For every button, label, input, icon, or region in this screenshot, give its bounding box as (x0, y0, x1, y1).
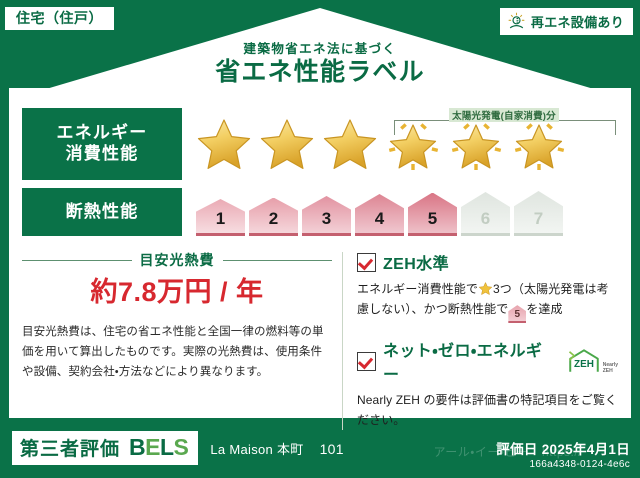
cost-section-title: 目安光熱費 (140, 250, 215, 270)
insulation-badge-5: 5 (408, 193, 457, 234)
star-plain (194, 114, 254, 174)
svg-text:ZEH: ZEH (574, 359, 594, 370)
insulation-badge-value: 4 (375, 209, 384, 229)
estimated-cost-value: 約7.8万円 / 年 (22, 279, 332, 306)
sun-icon (507, 12, 526, 31)
cost-section-header: 目安光熱費 (22, 250, 332, 270)
insulation-performance-label: 断熱性能 (22, 188, 182, 236)
evaluation-meta: 評価日 2025年4月1日 166a4348-0124-4e6c (496, 438, 630, 470)
zeh-desc-part-c: を達成 (526, 302, 562, 316)
insulation-badge-4: 4 (355, 194, 404, 233)
solar-caption: 太陽光発電(自家消費)分 (449, 108, 559, 122)
energy-performance-label: エネルギー 消費性能 (22, 108, 182, 180)
star-plain (320, 114, 380, 174)
column-divider (342, 252, 343, 430)
zeh-desc-star-count: 3つ (493, 282, 512, 296)
bels-en-label: BELS (129, 434, 188, 461)
label-content: エネルギー 消費性能 太陽光発電(自家消費)分 (22, 100, 618, 410)
bels-logo: 第三者評価 BELS (12, 431, 198, 465)
zeh-column: ZEH水準 エネルギー消費性能で3つ（太陽光発電は考慮しない）、かつ断熱性能で5… (355, 250, 618, 430)
heading-subtitle: 建築物省エネ法に基づく (0, 38, 640, 57)
divider-left (22, 260, 132, 261)
zeh-desc-part-a: エネルギー消費性能で (357, 282, 478, 296)
insulation-badge-value: 2 (269, 209, 278, 229)
net-zero-energy-block: ネット・ゼロ・エネルギー ZEH Nearly ZEH (357, 337, 618, 430)
insulation-badge-1: 1 (196, 199, 245, 233)
bels-jp-label: 第三者評価 (20, 434, 120, 461)
insulation-badge-value: 3 (322, 209, 331, 229)
zeh-level-description: エネルギー消費性能で3つ（太陽光発電は考慮しない）、かつ断熱性能で5を達成 (357, 279, 618, 321)
evaluation-date: 評価日 2025年4月1日 (496, 438, 630, 458)
zeh-house-icon: ZEH (567, 348, 601, 374)
energy-label-line1: エネルギー (57, 123, 148, 144)
zeh-level-header: ZEH水準 (357, 250, 618, 274)
inline-star-icon (478, 281, 493, 296)
detail-columns: 目安光熱費 約7.8万円 / 年 目安光熱費は、住宅の省エネ性能と全国一律の燃料… (22, 250, 618, 430)
energy-label-line2: 消費性能 (66, 144, 139, 165)
renewable-badge-label: 再エネ設備あり (531, 12, 624, 31)
insulation-label-line1: 断熱性能 (66, 202, 139, 223)
bels-letter-e: E (145, 434, 160, 460)
divider-right (223, 260, 333, 261)
energy-performance-row: エネルギー 消費性能 太陽光発電(自家消費)分 (22, 108, 618, 180)
inline-badge-value: 5 (514, 309, 520, 320)
renewable-energy-badge: 再エネ設備あり (499, 7, 634, 36)
star-plain (257, 114, 317, 174)
insulation-badge-list: 1 2 3 4 5 (196, 191, 563, 233)
property-info: La Maison 本町 101 (210, 439, 343, 458)
energy-label-card: 住宅（住戸） 再エネ設備あり 建築物省エネ法に基づく 省エネ性能ラベル エネルギ… (0, 0, 640, 478)
insulation-badge-value: 1 (216, 209, 225, 229)
zeh-logo-subtext: Nearly ZEH (603, 363, 618, 374)
insulation-badge-value: 6 (481, 209, 490, 229)
cost-column: 目安光熱費 約7.8万円 / 年 目安光熱費は、住宅の省エネ性能と全国一律の燃料… (22, 250, 342, 430)
insulation-badge-7: 7 (514, 191, 563, 233)
insulation-performance-row: 断熱性能 1 2 3 4 (22, 188, 618, 236)
check-icon (357, 352, 376, 371)
inline-insulation-badge-icon: 5 (508, 305, 526, 321)
zeh-logo: ZEH Nearly ZEH (567, 348, 618, 374)
bels-letter-s: S (174, 434, 189, 460)
insulation-badge-6: 6 (461, 192, 510, 233)
insulation-badge-value: 7 (534, 209, 543, 229)
label-heading: 建築物省エネ法に基づく 省エネ性能ラベル (0, 38, 640, 85)
insulation-badge-3: 3 (302, 196, 351, 233)
net-zero-title: ネット・ゼロ・エネルギー (383, 337, 557, 385)
bels-letter-b: B (129, 434, 145, 460)
housing-type-tag: 住宅（住戸） (4, 6, 115, 31)
insulation-badge-2: 2 (249, 198, 298, 234)
zeh-level-title: ZEH水準 (383, 250, 449, 274)
insulation-badge-value: 5 (428, 209, 437, 229)
zeh-logo-sub2: ZEH (603, 368, 613, 374)
heading-title: 省エネ性能ラベル (0, 60, 640, 85)
bels-letter-l: L (160, 434, 174, 460)
solar-caption-wrap: 太陽光発電(自家消費)分 (390, 106, 618, 124)
check-icon (357, 253, 376, 272)
net-zero-header: ネット・ゼロ・エネルギー ZEH Nearly ZEH (357, 337, 618, 385)
property-name: La Maison 本町 (210, 439, 303, 458)
cost-note-text: 目安光熱費は、住宅の省エネ性能と全国一律の燃料等の単価を用いて算出したものです。… (22, 323, 332, 382)
evaluation-id: 166a4348-0124-4e6c (496, 459, 630, 470)
property-room-number: 101 (320, 441, 344, 457)
